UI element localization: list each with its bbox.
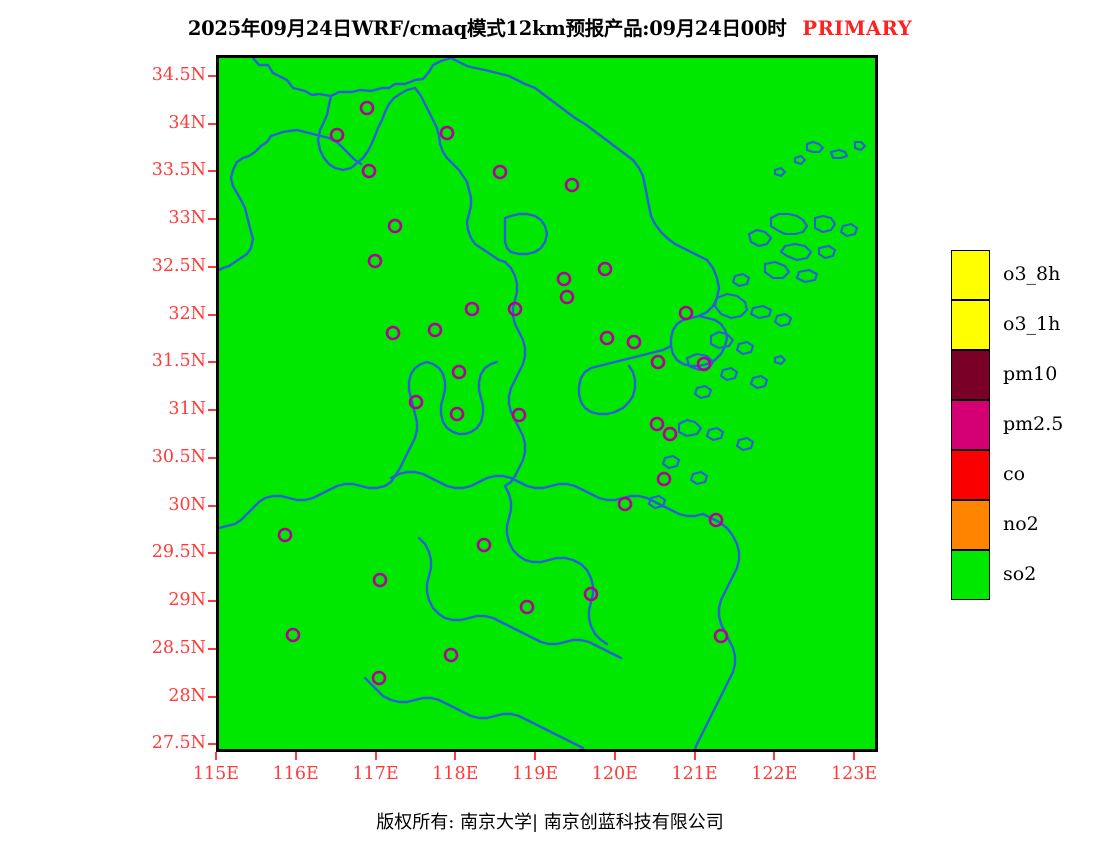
x-axis-tick bbox=[853, 752, 855, 760]
legend-color-swatch bbox=[951, 450, 990, 500]
y-axis-label: 28.5N bbox=[120, 638, 206, 658]
y-axis-label: 27.5N bbox=[120, 733, 206, 753]
y-axis-label: 29N bbox=[120, 590, 206, 610]
legend-color-swatch bbox=[951, 400, 990, 450]
legend-item-label: pm2.5 bbox=[1003, 413, 1063, 435]
y-axis-label: 32N bbox=[120, 304, 206, 324]
legend-color-swatch bbox=[951, 350, 990, 400]
title-main-text: 2025年09月24日WRF/cmaq模式12km预报产品:09月24日00时 bbox=[188, 17, 787, 40]
legend-item-label: o3_1h bbox=[1003, 313, 1060, 335]
x-axis-label: 115E bbox=[186, 764, 246, 784]
x-axis-label: 120E bbox=[585, 764, 645, 784]
y-axis-label: 32.5N bbox=[120, 256, 206, 276]
y-axis-tick bbox=[208, 505, 216, 507]
legend-color-swatch bbox=[951, 550, 990, 600]
x-axis-label: 117E bbox=[346, 764, 406, 784]
x-axis-label: 118E bbox=[425, 764, 485, 784]
y-axis-label: 34.5N bbox=[120, 65, 206, 85]
x-axis-label: 123E bbox=[824, 764, 884, 784]
x-axis-tick bbox=[375, 752, 377, 760]
y-axis-label: 30N bbox=[120, 495, 206, 515]
y-axis-tick bbox=[208, 170, 216, 172]
y-axis-tick bbox=[208, 457, 216, 459]
x-axis-tick bbox=[454, 752, 456, 760]
map-vector-layer bbox=[219, 58, 875, 749]
y-axis-label: 34N bbox=[120, 113, 206, 133]
y-axis-label: 29.5N bbox=[120, 542, 206, 562]
legend-item-label: no2 bbox=[1003, 513, 1039, 535]
x-axis-tick bbox=[215, 752, 217, 760]
y-axis-tick bbox=[208, 409, 216, 411]
y-axis-tick bbox=[208, 600, 216, 602]
y-axis-label: 33.5N bbox=[120, 160, 206, 180]
y-axis-tick bbox=[208, 266, 216, 268]
legend-color-swatch bbox=[951, 300, 990, 350]
title-primary-badge: PRIMARY bbox=[802, 17, 912, 40]
legend-item-label: so2 bbox=[1003, 563, 1036, 585]
y-axis-tick bbox=[208, 648, 216, 650]
legend-color-swatch bbox=[951, 500, 990, 550]
x-axis-tick bbox=[773, 752, 775, 760]
chart-title: 2025年09月24日WRF/cmaq模式12km预报产品:09月24日00时P… bbox=[0, 12, 1100, 41]
legend-item-label: pm10 bbox=[1003, 363, 1057, 385]
x-axis-label: 119E bbox=[505, 764, 565, 784]
y-axis-tick bbox=[208, 552, 216, 554]
x-axis-label: 116E bbox=[266, 764, 326, 784]
x-axis-label: 122E bbox=[744, 764, 804, 784]
map-plot-area[interactable] bbox=[216, 55, 878, 752]
y-axis-label: 31.5N bbox=[120, 351, 206, 371]
y-axis-tick bbox=[208, 314, 216, 316]
x-axis-tick bbox=[534, 752, 536, 760]
y-axis-tick bbox=[208, 123, 216, 125]
y-axis-tick bbox=[208, 218, 216, 220]
legend-item-label: o3_8h bbox=[1003, 263, 1060, 285]
y-axis-label: 33N bbox=[120, 208, 206, 228]
x-axis-label: 121E bbox=[665, 764, 725, 784]
x-axis-tick bbox=[694, 752, 696, 760]
y-axis-tick bbox=[208, 75, 216, 77]
x-axis-tick bbox=[295, 752, 297, 760]
y-axis-tick bbox=[208, 696, 216, 698]
y-axis-label: 30.5N bbox=[120, 447, 206, 467]
y-axis-label: 31N bbox=[120, 399, 206, 419]
legend-color-swatch bbox=[951, 250, 990, 300]
copyright-footer: 版权所有: 南京大学| 南京创蓝科技有限公司 bbox=[0, 808, 1100, 834]
y-axis-tick bbox=[208, 743, 216, 745]
x-axis-tick bbox=[614, 752, 616, 760]
legend-item-label: co bbox=[1003, 463, 1025, 485]
y-axis-tick bbox=[208, 361, 216, 363]
y-axis-label: 28N bbox=[120, 686, 206, 706]
